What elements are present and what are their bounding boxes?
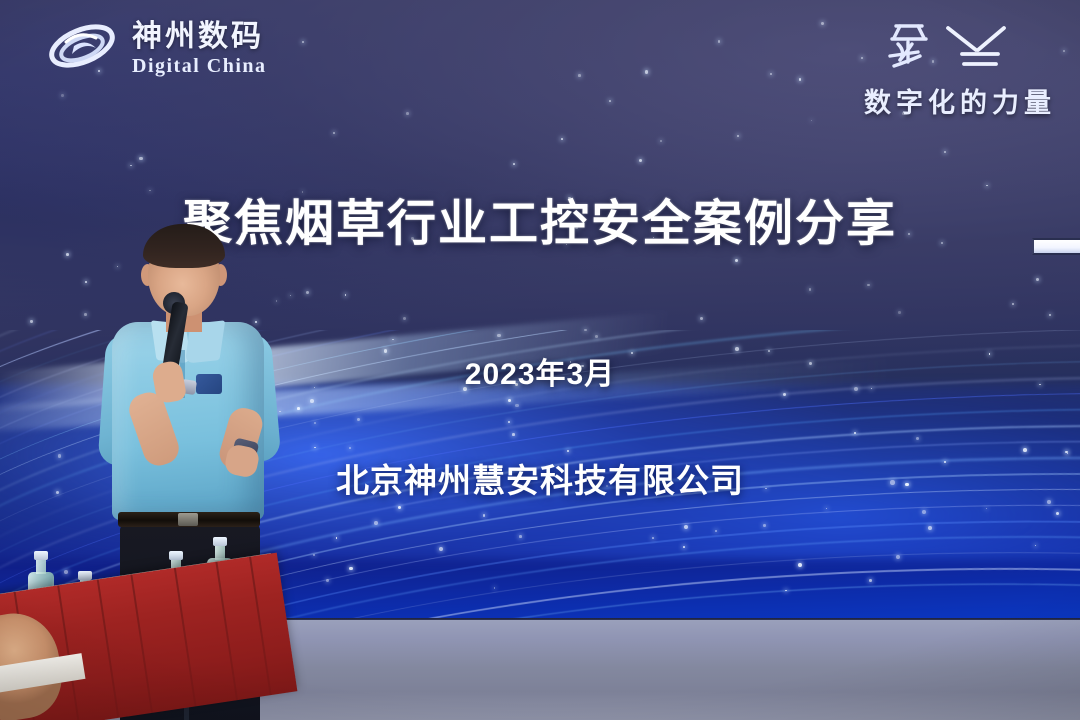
light-particle (333, 132, 335, 134)
light-particle (578, 74, 581, 77)
light-particle (639, 159, 642, 162)
speaker-belt-buckle (178, 513, 198, 526)
light-particle (737, 135, 739, 137)
light-particle (139, 157, 142, 160)
light-particle (61, 94, 64, 97)
light-particle (809, 288, 811, 290)
light-particle (30, 320, 32, 322)
cloth-fold (57, 585, 80, 720)
bottle-cap (34, 551, 48, 560)
light-particle (513, 163, 515, 165)
cloth-fold (130, 574, 153, 713)
cloth-fold (249, 557, 272, 696)
light-particle (867, 284, 869, 286)
light-particle (85, 281, 87, 283)
juhe-calligraphy-icon (878, 16, 1028, 78)
light-particle (302, 41, 304, 43)
light-particle (770, 73, 772, 75)
bottle-cap (169, 551, 183, 560)
light-particle (811, 120, 812, 121)
light-particle (1063, 50, 1065, 52)
light-particle (406, 112, 409, 115)
light-particle (861, 57, 863, 59)
bottle-cap (78, 571, 92, 580)
bottle-neck (36, 559, 46, 574)
light-particle (799, 78, 801, 80)
digital-china-logo-lockup: 神州数码 Digital China (46, 18, 267, 80)
light-particle (561, 138, 563, 140)
light-particle (84, 313, 87, 316)
cloth-fold (97, 579, 120, 718)
light-particle (645, 70, 648, 73)
light-particle (130, 165, 131, 166)
digital-china-wordmark: 神州数码 Digital China (132, 22, 267, 76)
juhe-logo-lockup: 数字化的力量 (864, 16, 1056, 120)
speaker-hair (143, 224, 225, 268)
bottle-cap (213, 537, 227, 546)
light-particle (821, 22, 824, 25)
brand-name-en: Digital China (132, 56, 267, 76)
juhe-tagline: 数字化的力量 (864, 81, 1056, 120)
light-particle (403, 317, 406, 320)
light-particle (345, 294, 347, 296)
light-particle (306, 291, 309, 294)
cloth-fold (215, 562, 238, 701)
light-particle (944, 151, 946, 153)
light-particle (290, 295, 291, 296)
light-particle (660, 140, 662, 142)
digital-china-swirl-icon (46, 18, 118, 80)
light-particle (718, 40, 720, 42)
cloth-fold (174, 568, 197, 707)
screenshot-root: 神州数码 Digital China 数 (0, 0, 1080, 720)
bottle-neck (215, 545, 225, 560)
brand-name-cn: 神州数码 (132, 22, 267, 52)
speaker-chest-logo-icon (196, 374, 222, 394)
light-particle (735, 259, 738, 262)
light-particle (609, 100, 611, 102)
